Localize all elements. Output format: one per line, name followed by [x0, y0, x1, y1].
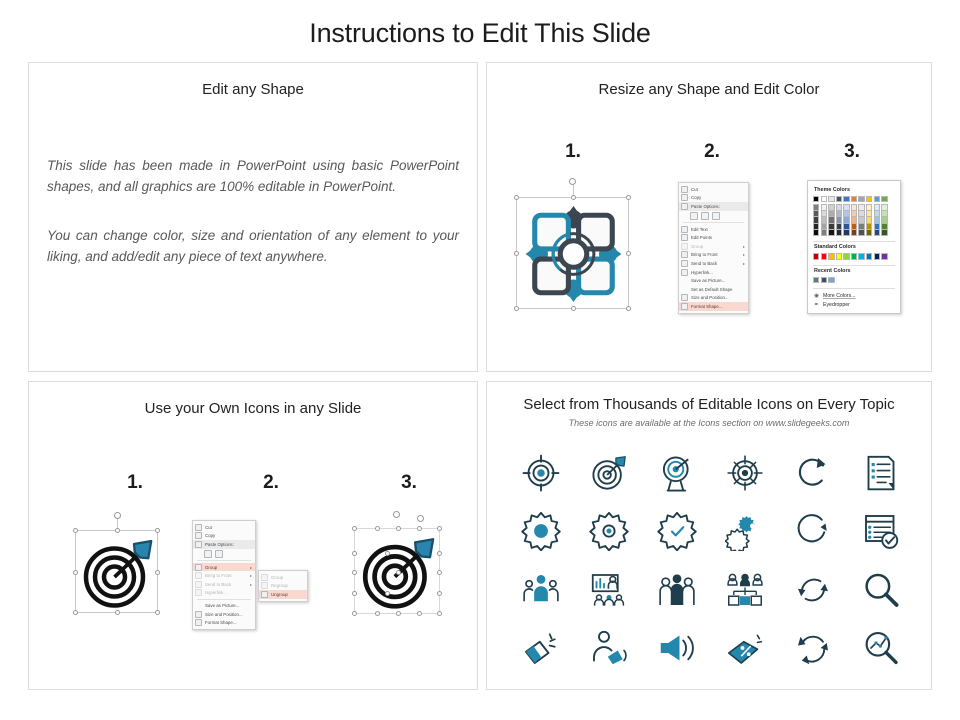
theme-shade-col[interactable]: [821, 204, 827, 236]
color-picker-separator: [813, 288, 895, 289]
ctx-label: Format Shape...: [205, 620, 252, 625]
team-three-people-icon[interactable]: [657, 570, 697, 610]
paste-destination-theme-icon[interactable]: [701, 212, 709, 220]
chevron-right-icon: ▸: [743, 261, 745, 266]
ungroup-icon: [261, 591, 268, 598]
resize-handle[interactable]: [396, 570, 401, 575]
chevron-right-icon: ▸: [250, 573, 252, 578]
ctx-label: Copy: [205, 533, 252, 538]
step-number-3: 3.: [832, 141, 872, 163]
hyperlink-icon: [195, 589, 202, 596]
magnifier-icon[interactable]: [861, 570, 901, 610]
document-approved-icon[interactable]: [861, 511, 901, 551]
description-paragraph-2: You can change color, size and orientati…: [47, 226, 459, 268]
ctx-item-send-to-back[interactable]: Send to Back ▸: [679, 259, 748, 268]
page-title: Instructions to Edit This Slide: [0, 18, 960, 49]
icon-selection-frame-ungrouped[interactable]: [354, 528, 440, 614]
crosshair-target-icon[interactable]: [725, 453, 765, 493]
eyedropper-label: Eyedropper: [823, 302, 850, 308]
chevron-right-icon: ▸: [250, 565, 252, 570]
send-back-icon: [195, 581, 202, 588]
step-number-3: 3.: [389, 472, 429, 494]
resize-handle[interactable]: [396, 526, 401, 531]
theme-shade-col[interactable]: [866, 204, 872, 236]
paste-keep-formatting-icon[interactable]: [690, 212, 698, 220]
theme-swatch[interactable]: [843, 196, 849, 202]
rotate-handle[interactable]: [114, 512, 121, 519]
submenu-item-regroup: Regroup: [259, 582, 307, 591]
resize-handle-sw[interactable]: [73, 610, 78, 615]
chevron-right-icon: ▸: [743, 244, 745, 249]
resize-handle-ne[interactable]: [626, 195, 631, 200]
ctx-label: Hyperlink...: [205, 590, 252, 595]
copy-icon: [195, 532, 202, 539]
people-group-icon[interactable]: [521, 570, 561, 610]
send-back-icon: [681, 260, 688, 267]
submenu-item-group: Group: [259, 573, 307, 582]
ctx-label: Format Shape...: [691, 304, 745, 309]
standard-swatch[interactable]: [828, 253, 834, 259]
resize-handle[interactable]: [352, 526, 357, 531]
ctx-separator: [197, 599, 251, 600]
recent-colors-title: Recent Colors: [814, 268, 895, 274]
ctx-item-format-shape[interactable]: Format Shape...: [193, 618, 255, 627]
cut-icon: [195, 524, 202, 531]
resize-handle-n[interactable]: [571, 195, 576, 200]
regroup-icon: [261, 582, 268, 589]
dartboard-dart-icon[interactable]: [589, 453, 629, 493]
panel-heading-own-icons: Use your Own Icons in any Slide: [29, 400, 477, 417]
target-stand-icon[interactable]: [657, 453, 697, 493]
dartboard-with-dart-icon: [80, 535, 155, 610]
gear-outline-icon[interactable]: [589, 511, 629, 551]
standard-swatch[interactable]: [843, 253, 849, 259]
paste-options-row[interactable]: [679, 211, 748, 221]
panel-heading-editable-icons: Select from Thousands of Editable Icons …: [487, 396, 931, 413]
step-number-1: 1.: [115, 472, 155, 494]
standard-swatch[interactable]: [836, 253, 842, 259]
resize-handle[interactable]: [417, 611, 422, 616]
theme-shade-col[interactable]: [836, 204, 842, 236]
step-number-2: 2.: [692, 141, 732, 163]
eyedropper-button[interactable]: ✒ Eyedropper: [813, 300, 895, 309]
ctx-item-send-to-back: Send to Back ▸: [193, 580, 255, 589]
ctx-label: Size and Position...: [691, 295, 745, 300]
hyperlink-icon: [681, 269, 688, 276]
resize-handle[interactable]: [396, 611, 401, 616]
ctx-item-paste-options: Paste Options:: [193, 540, 255, 549]
resize-handle[interactable]: [352, 551, 357, 556]
resize-handle-se[interactable]: [626, 306, 631, 311]
theme-shade-col[interactable]: [828, 204, 834, 236]
format-shape-icon: [195, 619, 202, 626]
shape-context-menu[interactable]: Cut Copy Paste Options: Edit Text: [678, 182, 749, 314]
ctx-item-bring-to-front[interactable]: Bring to Front ▸: [679, 251, 748, 260]
ctx-item-group: Group ▸: [679, 242, 748, 251]
theme-colors-title: Theme Colors: [814, 187, 895, 193]
size-position-icon: [195, 611, 202, 618]
gear-check-icon[interactable]: [657, 511, 697, 551]
theme-swatch[interactable]: [881, 196, 887, 202]
panel-heading-edit-shape: Edit any Shape: [29, 81, 477, 98]
icon-context-menu[interactable]: Cut Copy Paste Options: Group ▸: [192, 520, 256, 630]
standard-swatch[interactable]: [874, 253, 880, 259]
megaphone-icon[interactable]: [521, 628, 561, 668]
ctx-item-format-shape[interactable]: Format Shape...: [679, 302, 748, 311]
gear-filled-icon[interactable]: [521, 511, 561, 551]
ctx-item-hyperlink[interactable]: Hyperlink...: [679, 268, 748, 277]
sync-arrows-icon[interactable]: [793, 570, 833, 610]
rotate-handle[interactable]: [417, 515, 424, 522]
ctx-label: Copy: [691, 195, 745, 200]
theme-swatch[interactable]: [836, 196, 842, 202]
ctx-label: Size and Position...: [205, 612, 252, 617]
theme-shade-col[interactable]: [874, 204, 880, 236]
resize-handle[interactable]: [437, 611, 442, 616]
resize-handle-s[interactable]: [115, 610, 120, 615]
standard-swatch[interactable]: [866, 253, 872, 259]
resize-handle-sw[interactable]: [514, 306, 519, 311]
ctx-label: Send to Back: [691, 261, 739, 266]
theme-swatch[interactable]: [874, 196, 880, 202]
submenu-item-ungroup[interactable]: Ungroup: [259, 590, 307, 599]
ctx-item-cut[interactable]: Cut: [193, 523, 255, 532]
speaker-sound-icon[interactable]: [657, 628, 697, 668]
paste-icon: [681, 203, 688, 210]
resize-handle-n[interactable]: [115, 528, 120, 533]
paste-picture-icon[interactable]: [712, 212, 720, 220]
recent-swatch[interactable]: [821, 277, 827, 283]
paste-icon: [195, 541, 202, 548]
ctx-label: Regroup: [271, 583, 304, 588]
ctx-label: Cut: [691, 187, 745, 192]
edit-text-icon: [681, 226, 688, 233]
resize-handle-s[interactable]: [571, 306, 576, 311]
resize-handle[interactable]: [385, 551, 390, 556]
standard-colors-row[interactable]: [813, 253, 895, 259]
format-shape-icon: [681, 303, 688, 310]
ctx-item-cut[interactable]: Cut: [679, 185, 748, 194]
redo-arrow-icon[interactable]: [793, 453, 833, 493]
ctx-item-set-default-shape[interactable]: Set as Default Shape: [679, 285, 748, 294]
resize-handle[interactable]: [352, 570, 357, 575]
ctx-label: Bring to Front: [691, 252, 739, 257]
cycle-arrows-icon[interactable]: [793, 628, 833, 668]
magnifier-chart-icon[interactable]: [861, 628, 901, 668]
ctx-item-edit-points[interactable]: Edit Points: [679, 233, 748, 242]
size-position-icon: [681, 294, 688, 301]
recent-swatch[interactable]: [813, 277, 819, 283]
ctx-label: Group: [205, 565, 246, 570]
double-gear-icon[interactable]: [725, 511, 765, 551]
ctx-separator: [197, 560, 251, 561]
checklist-document-icon[interactable]: [861, 453, 901, 493]
paste-options-row[interactable]: [193, 549, 255, 559]
theme-swatch[interactable]: [813, 196, 819, 202]
more-colors-label: More Colors...: [823, 293, 856, 299]
resize-handle[interactable]: [385, 591, 390, 596]
theme-shade-col[interactable]: [858, 204, 864, 236]
paste-picture-icon[interactable]: [215, 550, 223, 558]
standard-swatch[interactable]: [858, 253, 864, 259]
group-icon: [195, 564, 202, 571]
standard-swatch[interactable]: [881, 253, 887, 259]
theme-swatch[interactable]: [866, 196, 872, 202]
resize-handle-nw[interactable]: [514, 195, 519, 200]
group-icon: [261, 574, 268, 581]
ctx-item-size-and-position[interactable]: Size and Position...: [193, 610, 255, 619]
resize-handle[interactable]: [417, 526, 422, 531]
resize-handle-w[interactable]: [514, 251, 519, 256]
color-picker-separator: [813, 265, 895, 266]
refresh-circle-icon[interactable]: [793, 511, 833, 551]
theme-swatch[interactable]: [828, 196, 834, 202]
theme-swatch[interactable]: [851, 196, 857, 202]
theme-shade-col[interactable]: [843, 204, 849, 236]
theme-shades-grid[interactable]: [813, 204, 895, 236]
panel-subheading-editable-icons: These icons are available at the Icons s…: [487, 418, 931, 428]
four-quadrant-resize-shape-icon: [522, 203, 625, 305]
org-chart-icon[interactable]: [725, 570, 765, 610]
standard-swatch[interactable]: [821, 253, 827, 259]
ctx-label: Set as Default Shape: [691, 287, 745, 292]
bring-front-icon: [681, 251, 688, 258]
ctx-item-copy[interactable]: Copy: [679, 194, 748, 203]
ctx-label: Send to Back: [205, 582, 246, 587]
panel-edit-any-shape: Edit any Shape This slide has been made …: [28, 62, 478, 372]
resize-handle[interactable]: [375, 526, 380, 531]
resize-handle-se[interactable]: [155, 610, 160, 615]
icon-selection-frame-grouped[interactable]: [75, 530, 158, 613]
step-number-2: 2.: [251, 472, 291, 494]
ctx-label: Group: [271, 575, 304, 580]
paste-keep-formatting-icon[interactable]: [204, 550, 212, 558]
eyedropper-icon: ✒: [813, 302, 820, 308]
cut-icon: [681, 186, 688, 193]
color-picker-separator: [813, 241, 895, 242]
person-megaphone-icon[interactable]: [589, 628, 629, 668]
ctx-item-hyperlink: Hyperlink...: [193, 589, 255, 598]
ctx-label: Edit Points: [691, 235, 745, 240]
ctx-label: Save as Picture...: [691, 278, 745, 283]
ctx-item-copy[interactable]: Copy: [193, 532, 255, 541]
resize-handle[interactable]: [437, 526, 442, 531]
edit-points-icon: [681, 234, 688, 241]
standard-colors-title: Standard Colors: [814, 244, 895, 250]
slide-root: Instructions to Edit This Slide Edit any…: [0, 0, 960, 720]
recent-swatch[interactable]: [828, 277, 834, 283]
ctx-label: Group: [691, 244, 739, 249]
presentation-board-icon[interactable]: [589, 570, 629, 610]
theme-colors-row[interactable]: [813, 196, 895, 202]
chevron-right-icon: ▸: [250, 582, 252, 587]
resize-handle[interactable]: [437, 570, 442, 575]
ctx-item-bring-to-front: Bring to Front ▸: [193, 571, 255, 580]
copy-icon: [681, 194, 688, 201]
panel-resize-shape-edit-color: Resize any Shape and Edit Color 1. 2. 3.: [486, 62, 932, 372]
ctx-label: Paste Options:: [205, 542, 252, 547]
resize-handle[interactable]: [352, 591, 357, 596]
theme-shade-col[interactable]: [851, 204, 857, 236]
description-paragraph-1: This slide has been made in PowerPoint u…: [47, 156, 459, 198]
theme-swatch[interactable]: [858, 196, 864, 202]
resize-handle-nw[interactable]: [73, 528, 78, 533]
standard-swatch[interactable]: [851, 253, 857, 259]
step-number-1: 1.: [553, 141, 593, 163]
megaphone-percent-icon[interactable]: [725, 628, 765, 668]
theme-swatch[interactable]: [821, 196, 827, 202]
resize-handle[interactable]: [375, 611, 380, 616]
resize-handle-e[interactable]: [155, 570, 160, 575]
more-colors-button[interactable]: ◉ More Colors...: [813, 291, 895, 300]
color-picker-popup[interactable]: Theme Colors: [807, 180, 901, 314]
resize-handle-ne[interactable]: [155, 528, 160, 533]
panel-heading-resize-shape: Resize any Shape and Edit Color: [487, 81, 931, 98]
bring-front-icon: [195, 572, 202, 579]
recent-colors-row[interactable]: [813, 277, 895, 283]
chevron-right-icon: ▸: [743, 252, 745, 257]
ctx-label: Edit Text: [691, 227, 745, 232]
ctx-label: Ungroup: [271, 592, 304, 597]
palette-icon: ◉: [813, 293, 820, 299]
group-submenu[interactable]: Group Regroup Ungroup: [258, 570, 308, 602]
theme-shade-col[interactable]: [881, 204, 887, 236]
resize-handle[interactable]: [437, 551, 442, 556]
standard-swatch[interactable]: [813, 253, 819, 259]
ctx-item-paste-options: Paste Options:: [679, 202, 748, 211]
ctx-item-save-as-picture[interactable]: Save as Picture...: [679, 276, 748, 285]
theme-shade-col[interactable]: [813, 204, 819, 236]
ctx-label: Cut: [205, 525, 252, 530]
panel-editable-icons: Select from Thousands of Editable Icons …: [486, 381, 932, 690]
panel-use-own-icons: Use your Own Icons in any Slide 1. 2. 3.: [28, 381, 478, 690]
resize-handle-w[interactable]: [73, 570, 78, 575]
resize-handle[interactable]: [352, 611, 357, 616]
ctx-item-group[interactable]: Group ▸: [193, 563, 255, 572]
ctx-label: Save as Picture...: [205, 603, 252, 608]
ctx-label: Hyperlink...: [691, 270, 745, 275]
ctx-item-edit-text[interactable]: Edit Text: [679, 225, 748, 234]
ctx-label: Paste Options:: [691, 204, 745, 209]
ctx-item-size-and-position[interactable]: Size and Position...: [679, 294, 748, 303]
resize-handle-e[interactable]: [626, 251, 631, 256]
group-icon: [681, 243, 688, 250]
target-crosshair-filled-icon[interactable]: [521, 453, 561, 493]
ctx-separator: [683, 222, 744, 223]
rotate-handle[interactable]: [393, 511, 400, 518]
icon-grid: [507, 444, 915, 677]
ctx-label: Bring to Front: [205, 573, 246, 578]
shape-selection-frame[interactable]: [516, 197, 629, 309]
rotate-handle[interactable]: [569, 178, 576, 185]
resize-handle[interactable]: [437, 591, 442, 596]
ctx-item-save-as-picture[interactable]: Save as Picture...: [193, 601, 255, 610]
